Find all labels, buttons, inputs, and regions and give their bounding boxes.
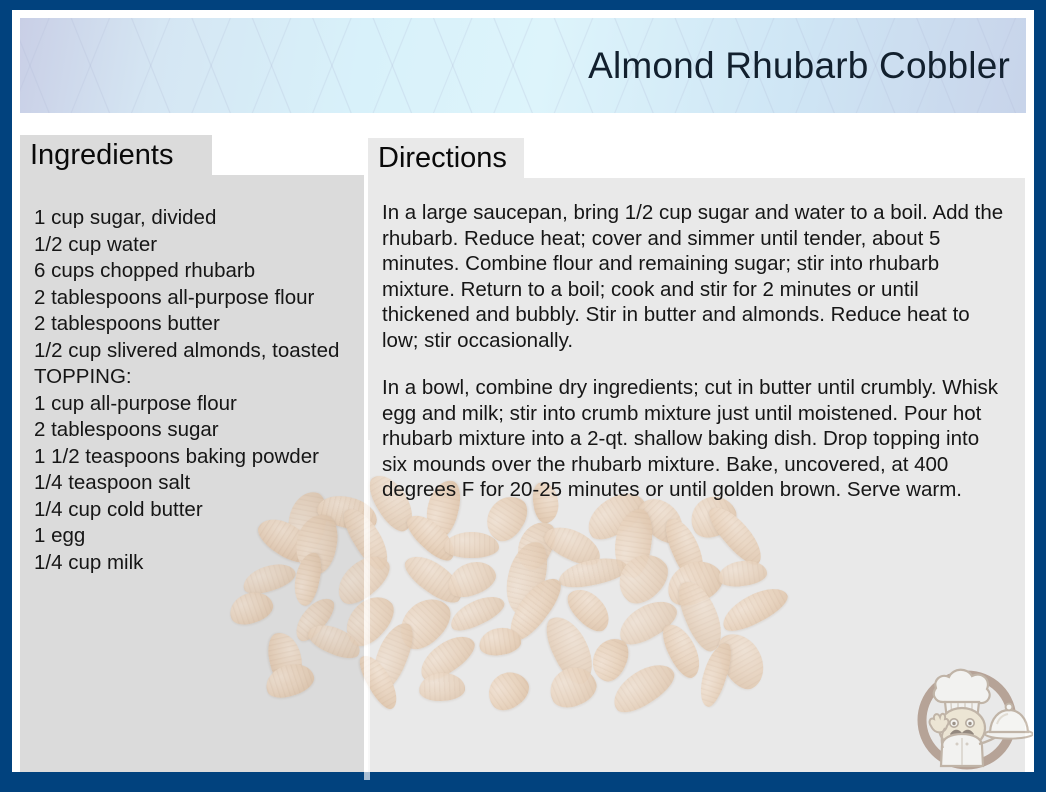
list-item: 1 cup all-purpose flour	[34, 391, 364, 418]
directions-section-heading: Directions	[368, 138, 524, 178]
page-title: Almond Rhubarb Cobbler	[588, 45, 1010, 87]
title-banner: Almond Rhubarb Cobbler	[20, 18, 1026, 113]
list-item: 1/2 cup slivered almonds, toasted	[34, 338, 364, 365]
ingredients-panel: 1 cup sugar, divided 1/2 cup water 6 cup…	[20, 175, 364, 772]
directions-text: In a large saucepan, bring 1/2 cup sugar…	[368, 178, 1025, 503]
list-item: 1/4 teaspoon salt	[34, 470, 364, 497]
list-item: 2 tablespoons butter	[34, 311, 364, 338]
directions-paragraph: In a bowl, combine dry ingredients; cut …	[382, 375, 1007, 503]
chef-mascot-logo	[909, 658, 1033, 776]
recipe-card: Almond Rhubarb Cobbler Ingredients Direc…	[0, 0, 1046, 792]
card-inner-surface: Almond Rhubarb Cobbler Ingredients Direc…	[12, 10, 1034, 772]
ingredients-list: 1 cup sugar, divided 1/2 cup water 6 cup…	[20, 175, 364, 576]
list-item: 1 cup sugar, divided	[34, 205, 364, 232]
list-item: 1/4 cup cold butter	[34, 497, 364, 524]
list-item: 1 1/2 teaspoons baking powder	[34, 444, 364, 471]
list-item: TOPPING:	[34, 364, 364, 391]
list-item: 1 egg	[34, 523, 364, 550]
list-item: 2 tablespoons all-purpose flour	[34, 285, 364, 312]
ingredients-section-heading: Ingredients	[20, 135, 212, 175]
list-item: 1/2 cup water	[34, 232, 364, 259]
directions-paragraph: In a large saucepan, bring 1/2 cup sugar…	[382, 200, 1007, 353]
list-item: 2 tablespoons sugar	[34, 417, 364, 444]
list-item: 6 cups chopped rhubarb	[34, 258, 364, 285]
list-item: 1/4 cup milk	[34, 550, 364, 577]
